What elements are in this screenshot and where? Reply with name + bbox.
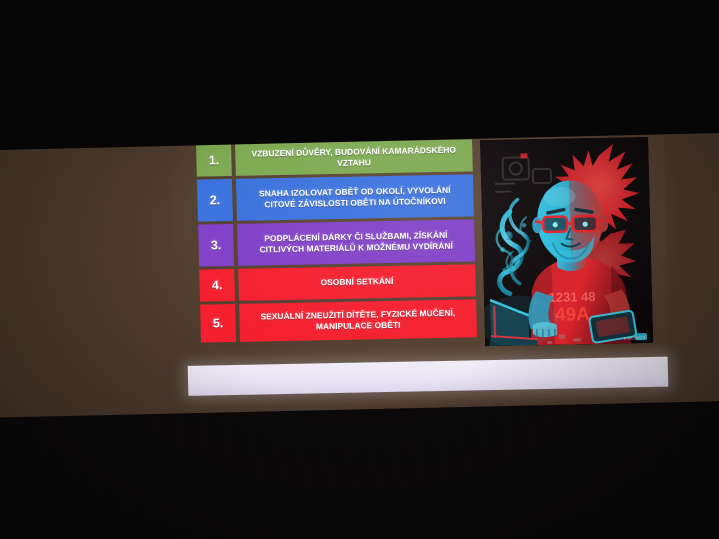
stage-number: 5. [200, 304, 236, 343]
cybergrooming-illustration: 1231 48 49A [480, 137, 653, 346]
room-ceiling-shadow [0, 0, 719, 150]
stage-number: 2. [197, 179, 233, 222]
stage-number: 1. [196, 144, 232, 177]
illustration-artwork: 1231 48 49A [480, 137, 653, 346]
table-row: 5. SEXUÁLNÍ ZNEUŽITÍ DÍTĚTE, FYZICKÉ MUČ… [200, 299, 477, 342]
projected-slide-photo: ETAPY KYBERGROOMINGU 1. VZBUZENÍ DŮVĚRY,… [0, 0, 719, 539]
room-floor-shadow [0, 401, 719, 539]
stage-label: SEXUÁLNÍ ZNEUŽITÍ DÍTĚTE, FYZICKÉ MUČENÍ… [239, 299, 477, 342]
table-row: 2. SNAHA IZOLOVAT OBĚŤ OD OKOLÍ, VYVOLÁN… [197, 174, 474, 221]
stage-number: 4. [199, 269, 235, 302]
stage-label: PODPLÁCENÍ DÁRKY ČI SLUŽBAMI, ZÍSKÁNÍ CI… [237, 219, 475, 266]
stage-label: SNAHA IZOLOVAT OBĚŤ OD OKOLÍ, VYVOLÁNÍ C… [236, 174, 474, 221]
stages-table: 1. VZBUZENÍ DŮVĚRY, BUDOVÁNÍ KAMARÁDSKÉH… [196, 139, 477, 345]
stage-label: OSOBNÍ SETKÁNÍ [238, 264, 476, 301]
table-row: 3. PODPLÁCENÍ DÁRKY ČI SLUŽBAMI, ZÍSKÁNÍ… [198, 219, 475, 266]
table-row: 4. OSOBNÍ SETKÁNÍ [199, 264, 476, 301]
artwork-credit: E-BEZPEČÍ [624, 336, 646, 340]
stage-number: 3. [198, 224, 234, 267]
shirt-text-line1: 1231 48 [548, 289, 595, 305]
table-row: 1. VZBUZENÍ DŮVĚRY, BUDOVÁNÍ KAMARÁDSKÉH… [196, 139, 473, 176]
stage-label: VZBUZENÍ DŮVĚRY, BUDOVÁNÍ KAMARÁDSKÉHO V… [235, 139, 473, 176]
shirt-text-line2: 49A [555, 304, 591, 326]
